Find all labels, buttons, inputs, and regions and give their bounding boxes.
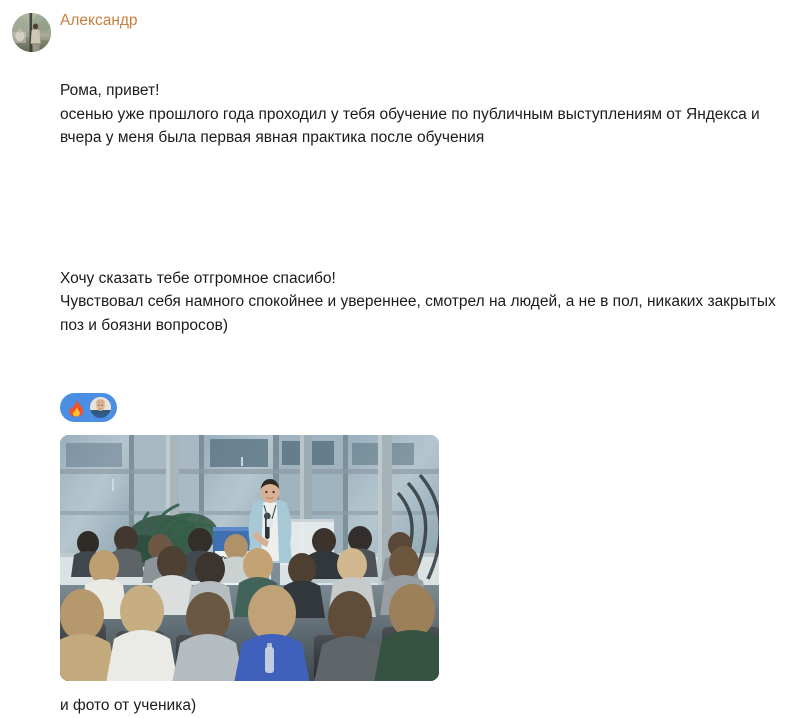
trailing-message-text: и фото от ученика): [60, 694, 786, 718]
message-body: Александр Рома, привет! осенью уже прошл…: [51, 11, 800, 718]
author-name[interactable]: Александр: [60, 11, 786, 31]
message-paragraph-2: Хочу сказать тебе отгромное спасибо! Чув…: [60, 267, 786, 338]
avatar[interactable]: [12, 13, 51, 52]
message-paragraph-1: Рома, привет! осенью уже прошлого года п…: [60, 79, 786, 150]
chat-message: Александр Рома, привет! осенью уже прошл…: [0, 11, 800, 718]
paragraph-spacer: [60, 197, 786, 220]
reaction-pill[interactable]: [60, 393, 117, 422]
photo-attachment[interactable]: Yandex Cloud: [60, 435, 439, 681]
reactor-avatar: [90, 397, 111, 418]
message-text: Рома, привет! осенью уже прошлого года п…: [60, 32, 786, 384]
top-cropped-text-fragment: [497, 0, 627, 7]
fire-emoji: [66, 398, 86, 418]
